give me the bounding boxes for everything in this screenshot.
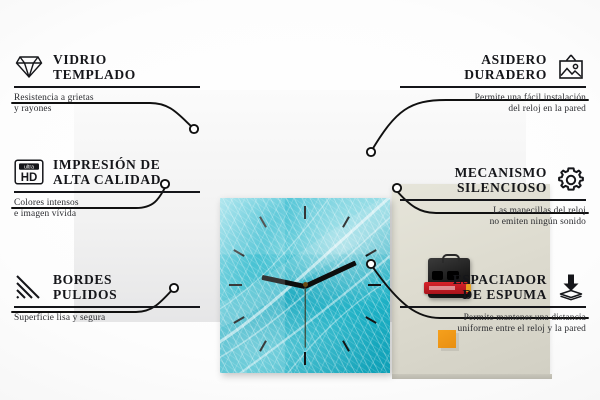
hour-hand — [261, 275, 305, 289]
desc-line-1: Resistencia a grietas — [14, 93, 94, 103]
title-line-2: TEMPLADO — [53, 67, 136, 82]
spacer-arrow-icon — [556, 272, 586, 302]
divider-rule — [14, 306, 200, 308]
desc-line-1: Superficie lisa y segura — [14, 313, 105, 323]
title-line-1: IMPRESIÓN DE — [53, 157, 160, 172]
desc-line-2: del reloj en la pared — [508, 104, 586, 114]
feature-description: Las manecillas del reloj no emiten ningú… — [400, 206, 586, 229]
title-line-1: ASIDERO — [481, 52, 547, 67]
title-line-2: PULIDOS — [53, 287, 117, 302]
feature-header: MECANISMO SILENCIOSO — [400, 165, 586, 195]
feature-header: BORDES PULIDOS — [14, 272, 200, 302]
feature-title: IMPRESIÓN DE ALTA CALIDAD — [53, 157, 161, 187]
gear-icon — [556, 165, 586, 195]
title-line-1: BORDES — [53, 272, 112, 287]
minute-hand — [304, 261, 357, 289]
tick-10 — [233, 249, 244, 257]
desc-line-1: Las manecillas del reloj — [493, 206, 586, 216]
feature-description: Permite mantener una distancia uniforme … — [400, 313, 586, 336]
diamond-icon — [14, 52, 44, 82]
feature-title: VIDRIO TEMPLADO — [53, 52, 136, 82]
panel-bottom-edge — [392, 374, 552, 379]
tick-6 — [304, 352, 306, 365]
feature-title: ASIDERO DURADERO — [464, 52, 547, 82]
feature-description: Permite una fácil instalación del reloj … — [400, 93, 586, 116]
tick-5 — [342, 340, 350, 351]
svg-text:ultra: ultra — [24, 165, 34, 171]
title-line-1: ESPACIADOR — [453, 272, 547, 287]
tick-11 — [259, 216, 267, 227]
desc-line-1: Colores intensos — [14, 198, 79, 208]
tick-12 — [304, 206, 306, 219]
feature-impresion-alta-calidad: ultra HD IMPRESIÓN DE ALTA CALIDAD Color… — [14, 157, 200, 221]
divider-rule — [400, 306, 586, 308]
tick-2 — [365, 249, 376, 257]
desc-line-2: uniforme entre el reloj y la pared — [458, 324, 586, 334]
title-line-1: VIDRIO — [53, 52, 107, 67]
tick-8 — [233, 316, 244, 324]
svg-text:HD: HD — [21, 172, 38, 184]
tick-3 — [368, 284, 381, 286]
feature-title: MECANISMO SILENCIOSO — [455, 165, 547, 195]
feature-header: VIDRIO TEMPLADO — [14, 52, 200, 82]
title-line-2: DURADERO — [464, 67, 547, 82]
desc-line-2: no emiten ningún sonido — [490, 217, 586, 227]
divider-rule — [14, 191, 200, 193]
tick-1 — [342, 216, 350, 227]
desc-line-2: e imagen vívida — [14, 209, 76, 219]
feature-description: Superficie lisa y segura — [14, 313, 200, 325]
feature-mecanismo-silencioso: MECANISMO SILENCIOSO Las manecillas del … — [400, 165, 586, 229]
mechanism-hook — [442, 254, 460, 263]
desc-line-1: Permite una fácil instalación — [475, 93, 586, 103]
tick-9 — [229, 284, 242, 286]
feature-vidrio-templado: VIDRIO TEMPLADO Resistencia a grietas y … — [14, 52, 200, 116]
infographic-canvas: VIDRIO TEMPLADO Resistencia a grietas y … — [0, 0, 600, 400]
title-line-2: SILENCIOSO — [457, 180, 547, 195]
divider-rule — [14, 86, 200, 88]
feature-asidero-duradero: ASIDERO DURADERO Permite una fácil insta… — [400, 52, 586, 116]
desc-line-2: y rayones — [14, 104, 52, 114]
feature-header: ultra HD IMPRESIÓN DE ALTA CALIDAD — [14, 157, 200, 187]
feature-header: ESPACIADOR DE ESPUMA — [400, 272, 586, 302]
tick-4 — [365, 316, 376, 324]
title-line-2: DE ESPUMA — [462, 287, 547, 302]
feature-title: BORDES PULIDOS — [53, 272, 117, 302]
hanging-picture-icon — [556, 52, 586, 82]
glass-clock-face — [220, 198, 390, 373]
feature-espaciador-de-espuma: ESPACIADOR DE ESPUMA Permite mantener un… — [400, 272, 586, 336]
feature-header: ASIDERO DURADERO — [400, 52, 586, 82]
feather-pattern — [220, 198, 390, 373]
divider-rule — [400, 86, 586, 88]
feature-description: Resistencia a grietas y rayones — [14, 93, 200, 116]
divider-rule — [400, 199, 586, 201]
feature-description: Colores intensos e imagen vívida — [14, 198, 200, 221]
ultra-hd-icon: ultra HD — [14, 157, 44, 187]
title-line-2: ALTA CALIDAD — [53, 172, 161, 187]
polished-edges-icon — [14, 272, 44, 302]
feature-bordes-pulidos: BORDES PULIDOS Superficie lisa y segura — [14, 272, 200, 324]
title-line-1: MECANISMO — [455, 165, 547, 180]
tick-7 — [259, 340, 267, 351]
desc-line-1: Permite mantener una distancia — [464, 313, 586, 323]
center-pin — [303, 282, 308, 287]
feature-title: ESPACIADOR DE ESPUMA — [453, 272, 547, 302]
second-hand — [304, 286, 305, 348]
